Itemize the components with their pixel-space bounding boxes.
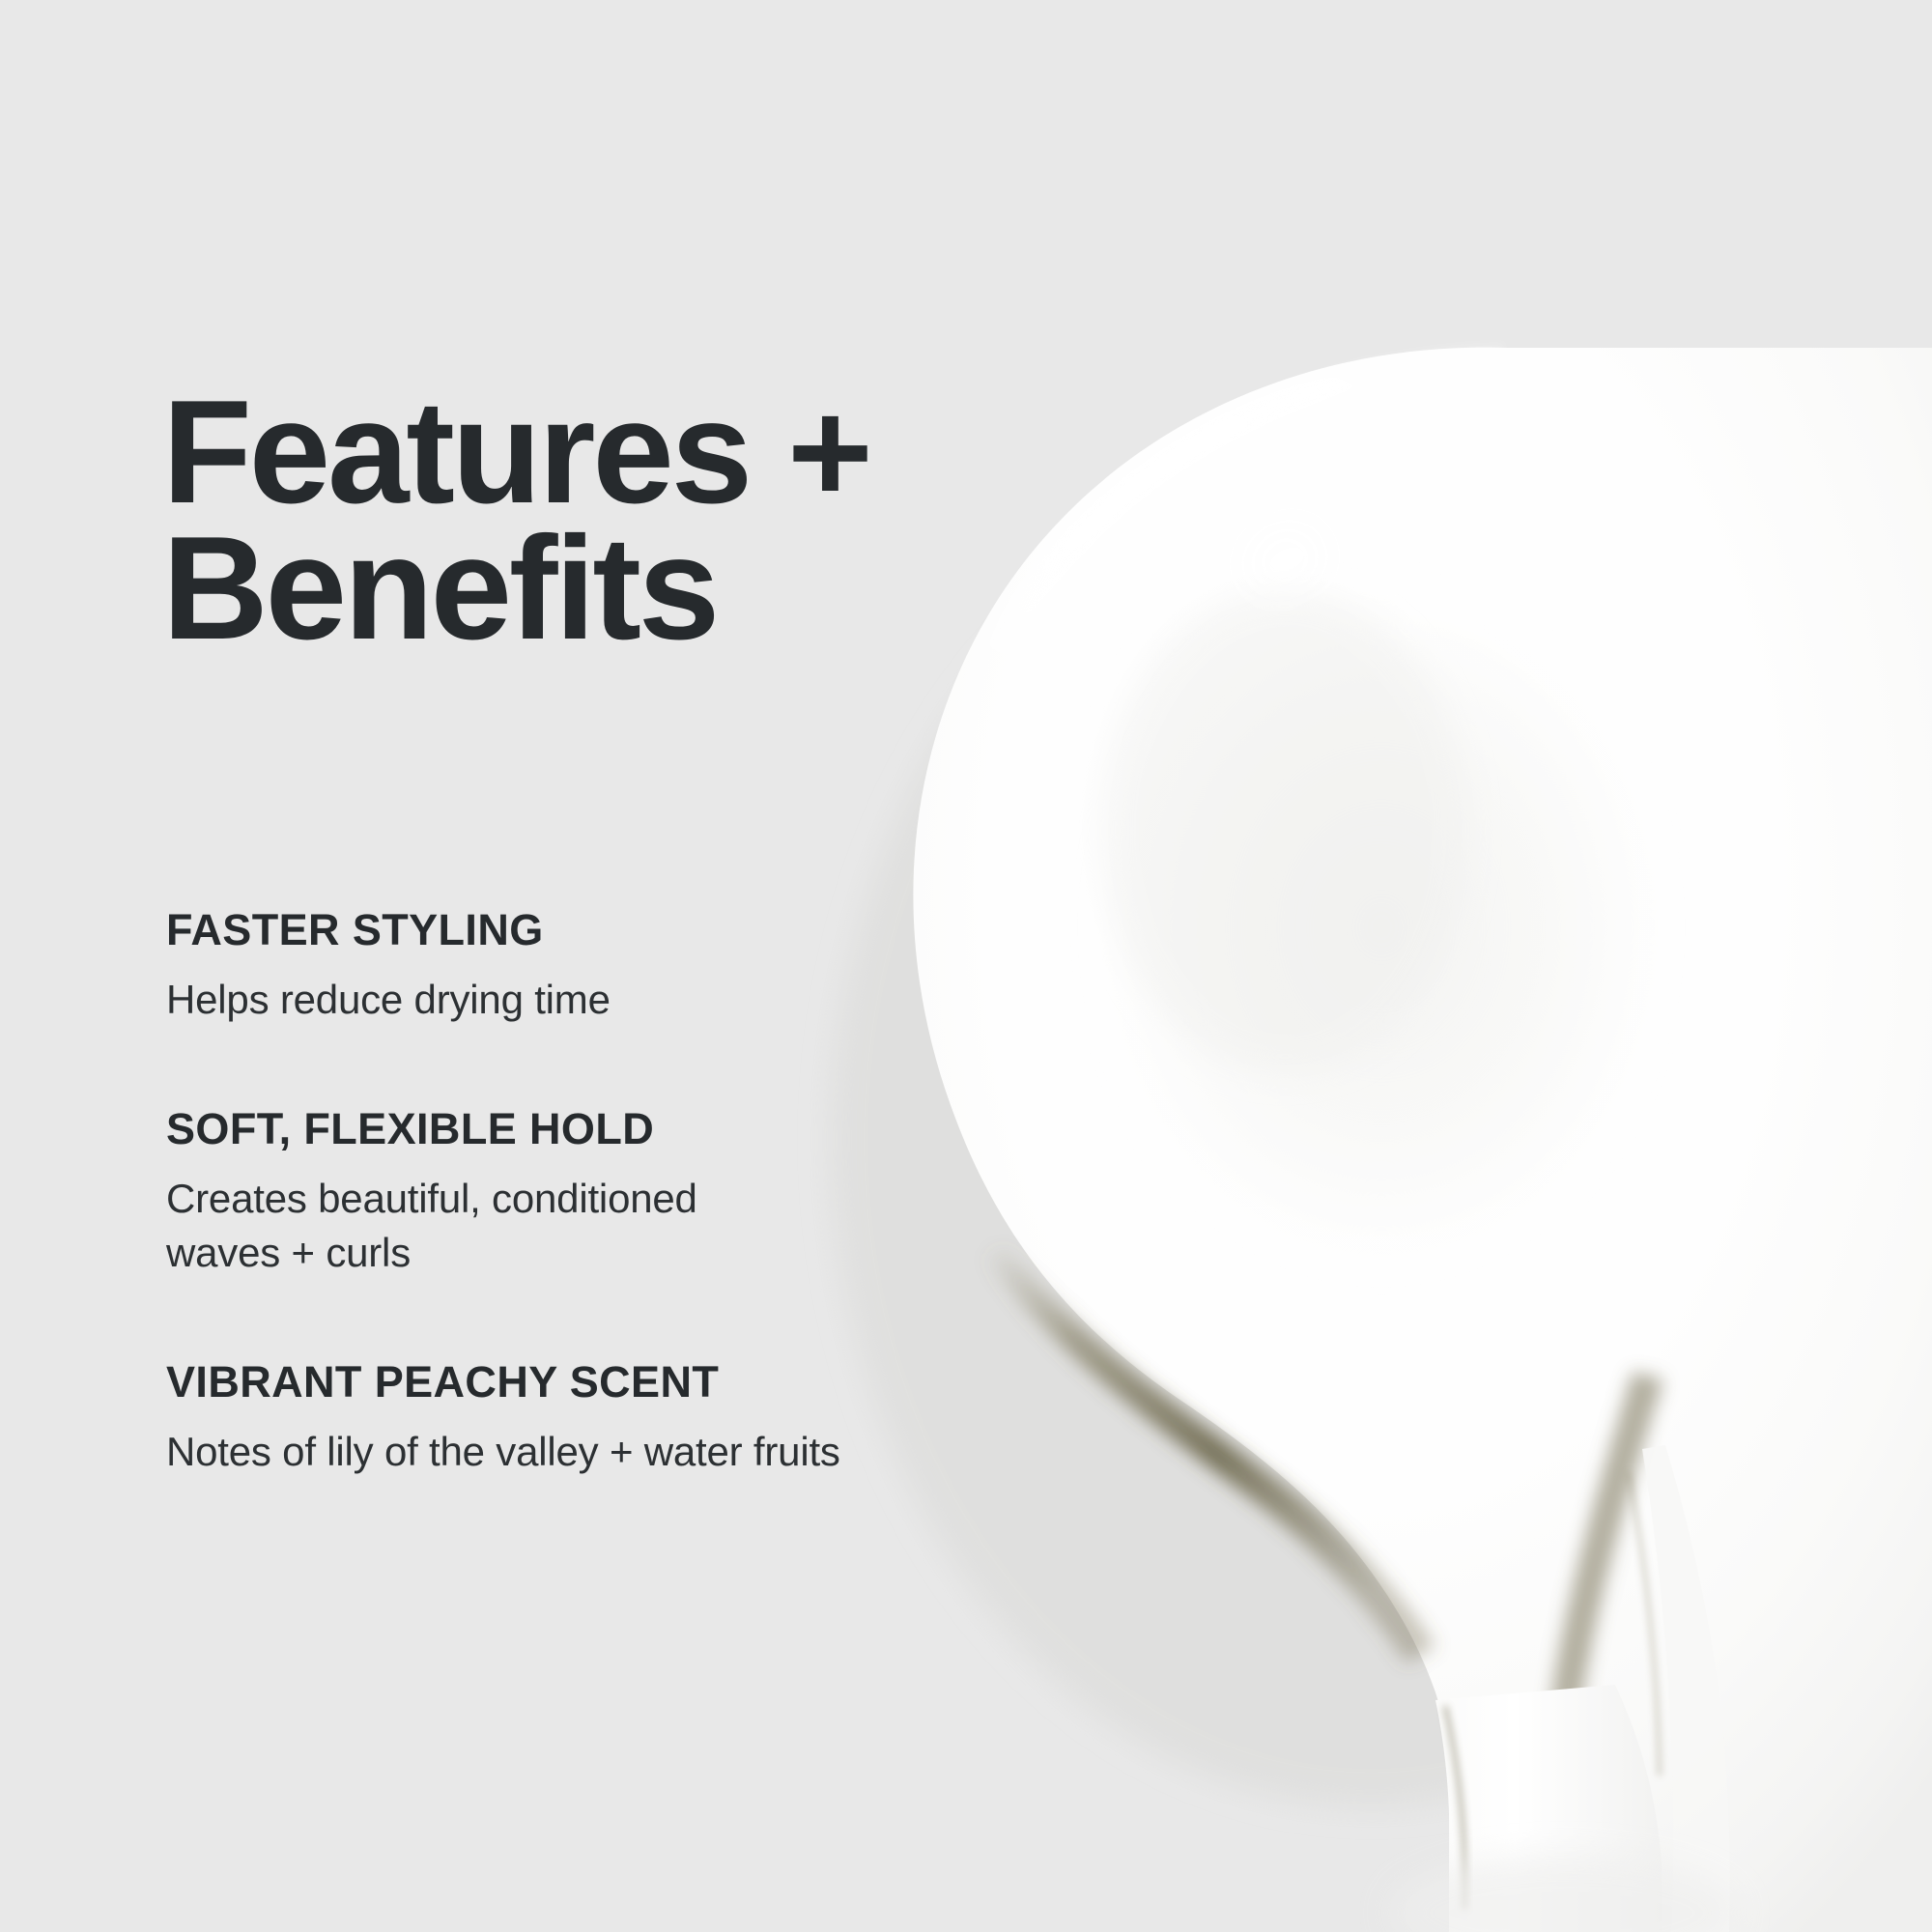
droplet-drip-edge-line-right: [1629, 1472, 1660, 1776]
droplet-fold-shadow: [983, 1246, 1435, 1663]
feature-description: Helps reduce drying time: [166, 973, 823, 1026]
feature-list: FASTER STYLING Helps reduce drying time …: [166, 908, 978, 1479]
droplet-rim-highlight: [968, 344, 1503, 688]
droplet-body: [913, 348, 1932, 1932]
droplet-ambient-shadow: [831, 473, 1913, 1806]
product-feature-card: Features + Benefits FASTER STYLING Helps…: [0, 0, 1932, 1932]
droplet-runoff: [1642, 1445, 1730, 1932]
feature-title: VIBRANT PEACHY SCENT: [166, 1360, 978, 1404]
feature-description: Creates beautiful, conditioned waves + c…: [166, 1172, 804, 1279]
feature-title: FASTER STYLING: [166, 908, 978, 952]
droplet-inner-shading: [1092, 580, 1671, 1275]
feature-item-vibrant-peachy-scent: VIBRANT PEACHY SCENT Notes of lily of th…: [166, 1360, 978, 1478]
page-title: Features + Benefits: [162, 384, 935, 658]
droplet-base-shading: [1391, 1855, 1739, 1932]
droplet-neck-shadow: [1544, 1372, 1663, 1884]
feature-title: SOFT, FLEXIBLE HOLD: [166, 1107, 978, 1151]
feature-item-soft-flexible-hold: SOFT, FLEXIBLE HOLD Creates beautiful, c…: [166, 1107, 978, 1279]
feature-item-faster-styling: FASTER STYLING Helps reduce drying time: [166, 908, 978, 1026]
text-column: Features + Benefits FASTER STYLING Helps…: [0, 0, 966, 1932]
feature-description: Notes of lily of the valley + water frui…: [166, 1425, 978, 1478]
droplet-drip-strand: [1435, 1685, 1662, 1932]
droplet-drip-edge-line: [1445, 1706, 1464, 1909]
droplet-specular-dot-core: [1264, 542, 1309, 579]
droplet-inner-shading-2: [1101, 589, 1468, 1072]
droplet-specular-dot: [1244, 526, 1325, 596]
